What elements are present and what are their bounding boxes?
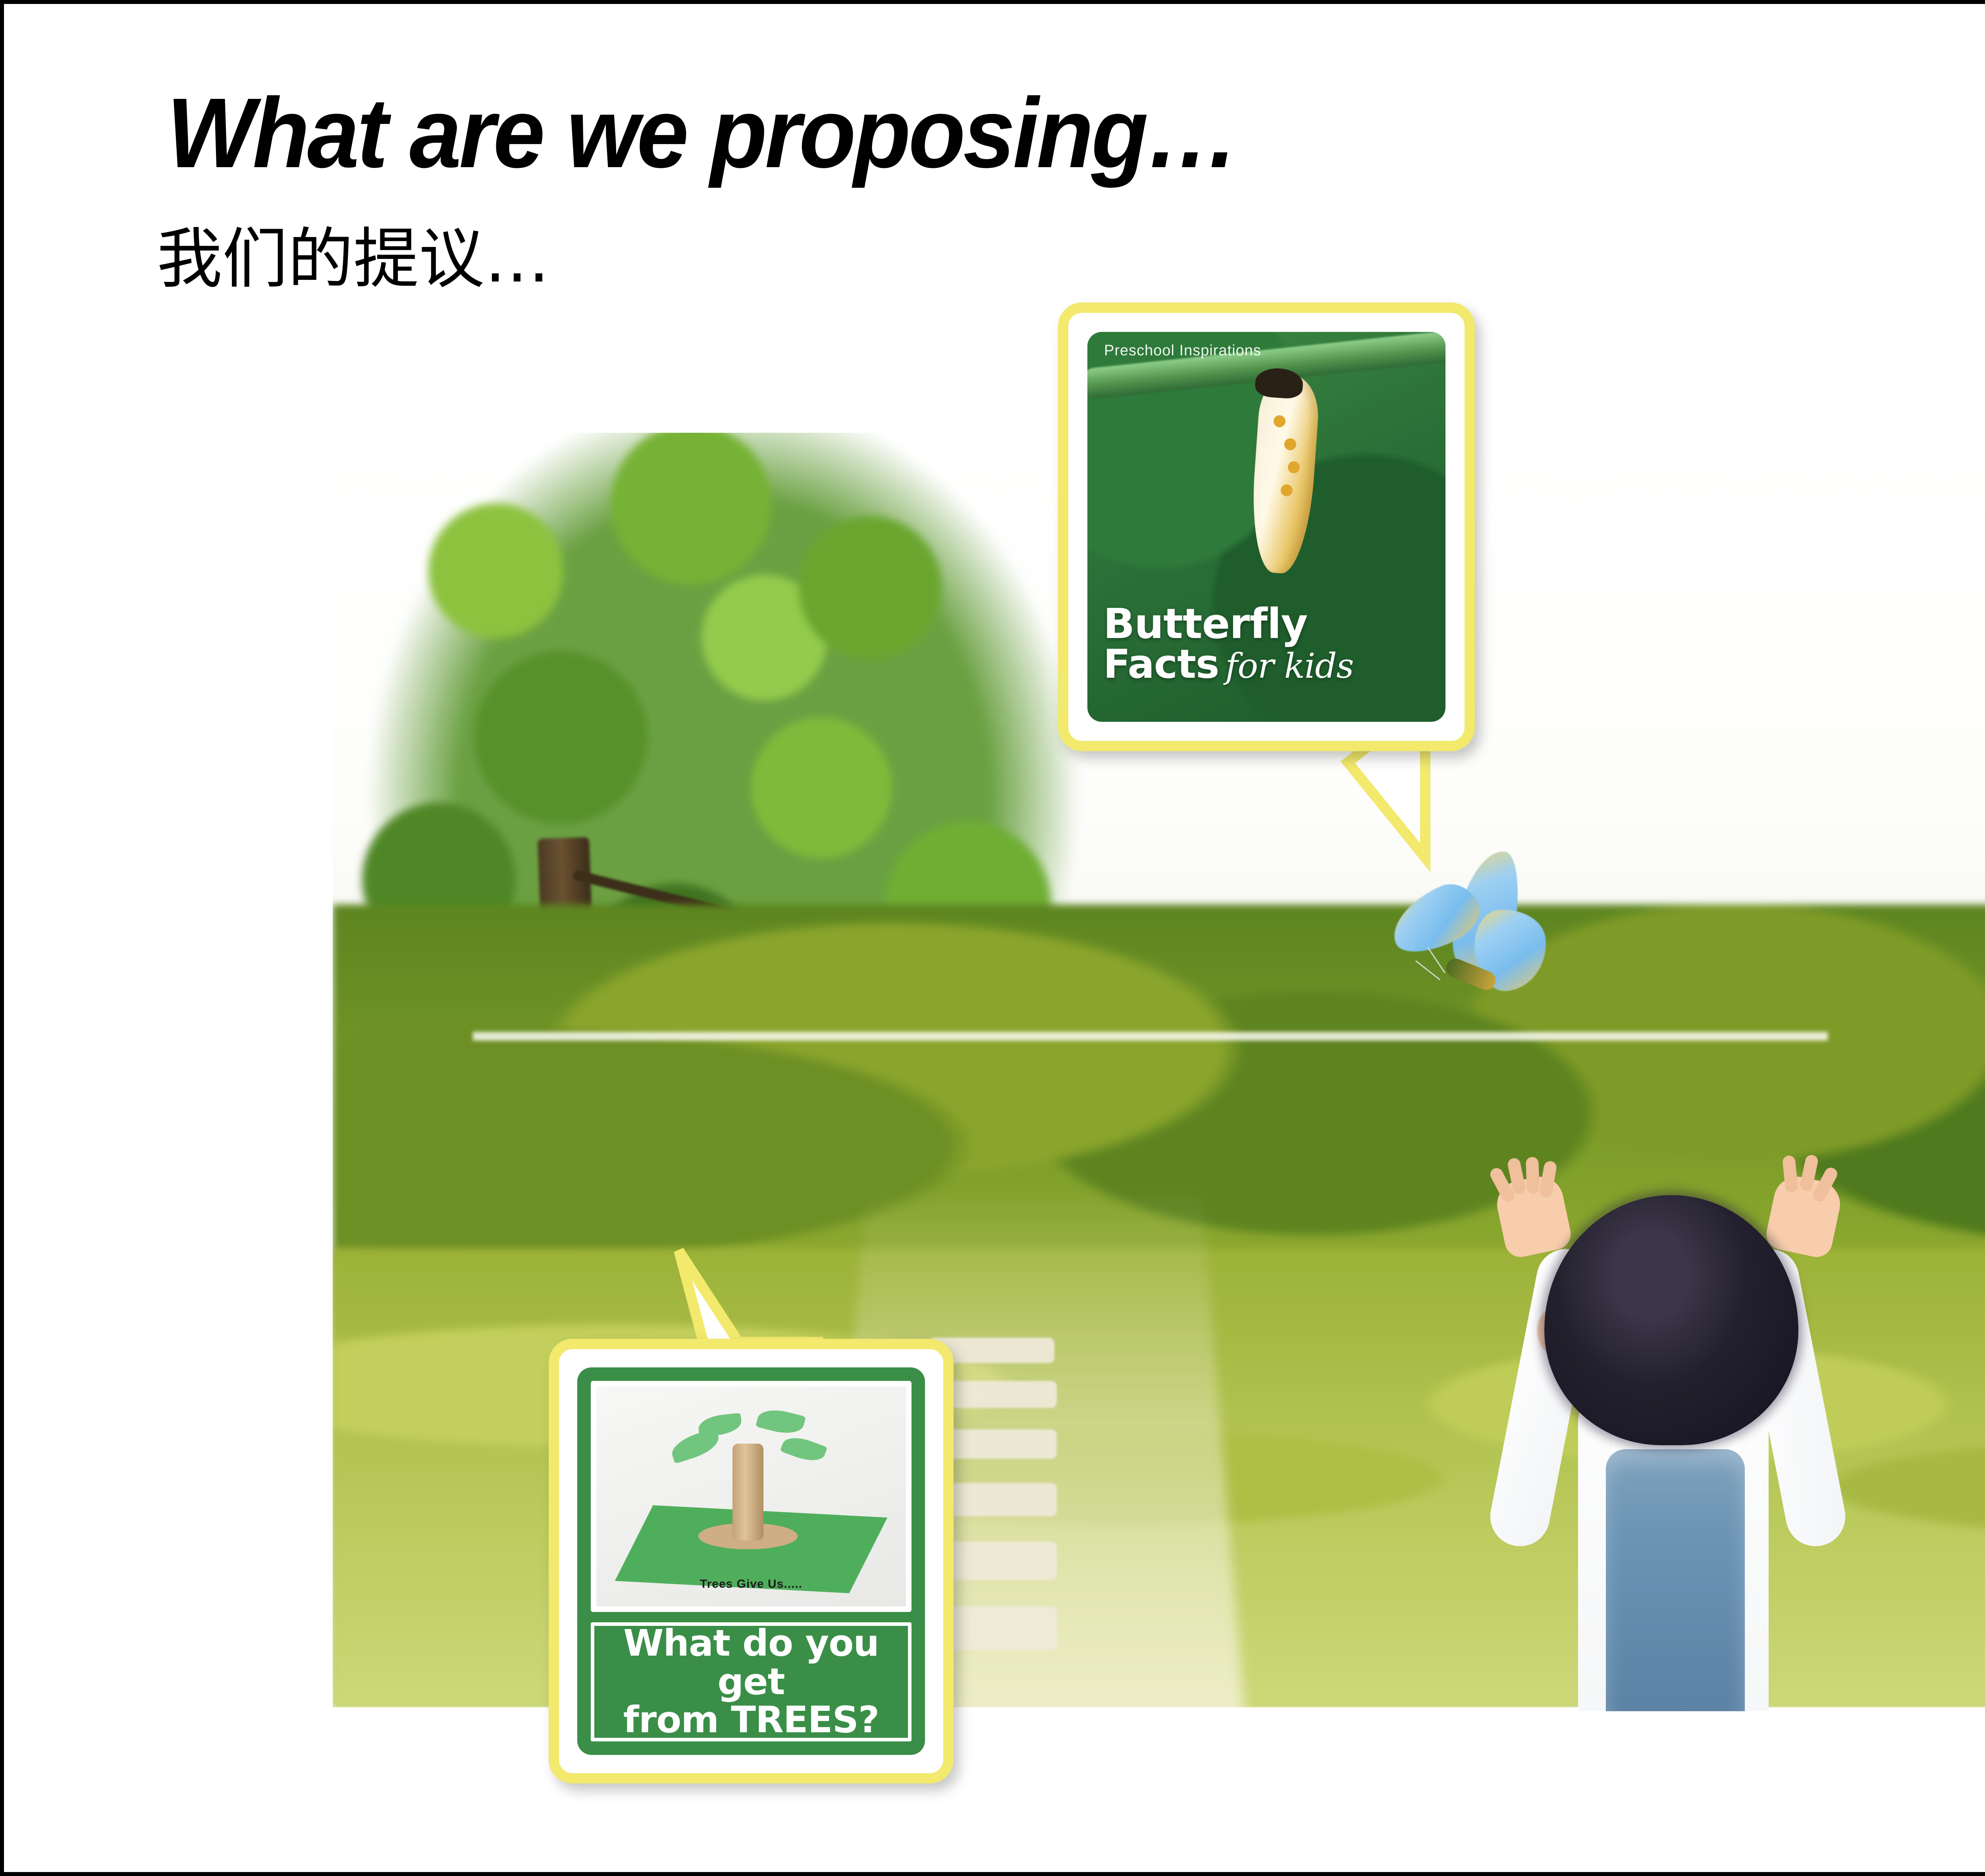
finger: [1539, 1160, 1557, 1198]
bubble-trees-poster[interactable]: Trees Give Us..... What do you get from …: [549, 1339, 954, 1783]
butterfly-antenna: [1415, 960, 1440, 980]
white-fence: [473, 1032, 1828, 1041]
card-title: Butterfly Factsfor kids: [1103, 604, 1353, 684]
paper-tree-trunk: [732, 1444, 763, 1541]
trees-headline: What do you get from TREES?: [591, 1622, 912, 1741]
butterfly-illustration: [1386, 850, 1592, 1020]
chrysalis-spot: [1281, 484, 1293, 496]
butterfly-facts-card: Preschool Inspirations Butterfly Factsfo…: [1087, 332, 1445, 722]
photo-caption: Trees Give Us.....: [596, 1577, 906, 1591]
chrysalis-spot: [1288, 461, 1300, 473]
child-right-hand: [1763, 1172, 1844, 1260]
child-overalls: [1606, 1449, 1745, 1711]
finger: [1526, 1157, 1540, 1194]
tree-craft-photo: Trees Give Us.....: [591, 1381, 912, 1612]
card-title-script: for kids: [1226, 646, 1354, 686]
chrysalis-spot: [1274, 415, 1285, 427]
headline-line2: from TREES?: [623, 1699, 879, 1741]
bubble-butterfly-facts[interactable]: Preschool Inspirations Butterfly Factsfo…: [1058, 303, 1475, 751]
slide-canvas: What are we proposing… 我们的提议…: [0, 0, 1985, 1876]
headline-line1: What do you get: [623, 1622, 879, 1703]
child-left-hand: [1493, 1172, 1574, 1260]
card-title-line2: Facts: [1103, 641, 1219, 687]
child-head-hair: [1544, 1195, 1798, 1445]
chrysalis-spot: [1284, 438, 1296, 450]
finger: [1799, 1154, 1819, 1192]
card-credit: Preschool Inspirations: [1104, 342, 1261, 359]
butterfly-antenna: [1427, 947, 1445, 973]
chrysalis-graphic: [1248, 373, 1321, 575]
page-title: What are we proposing…: [167, 83, 1237, 183]
page-subtitle-chinese: 我们的提议…: [157, 226, 550, 292]
child-figure: [1469, 1116, 1874, 1711]
trees-poster-card: Trees Give Us..... What do you get from …: [577, 1367, 925, 1755]
finger: [1782, 1155, 1798, 1193]
